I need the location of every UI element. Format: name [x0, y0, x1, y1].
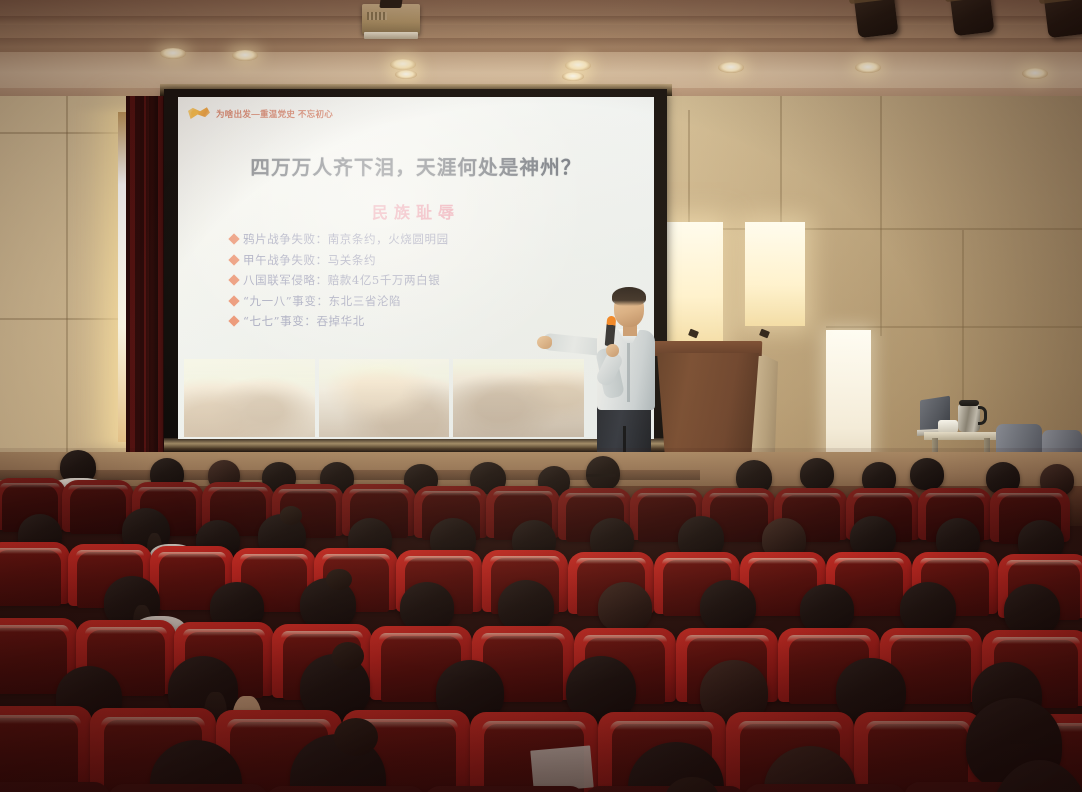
stage-spotlight-icon [1043, 0, 1082, 38]
audience-head [586, 456, 620, 490]
slide-bullet-item: 鸦片战争失败：南京条约，火烧圆明园 [230, 229, 624, 250]
presenter-hand [606, 344, 619, 357]
stage-spotlight-icon [949, 0, 994, 36]
theater-seat[interactable] [0, 782, 110, 792]
flame-emblem-icon [188, 107, 210, 121]
theater-seat[interactable] [108, 784, 268, 792]
ceiling-projector [362, 4, 420, 34]
diamond-bullet-icon [228, 254, 239, 265]
slide-bullet-text: “七七”事变：吞掉华北 [243, 313, 365, 329]
audience-head [900, 582, 956, 634]
slide-bullet-text: “九一八”事变：东北三省沦陷 [243, 293, 401, 309]
eyeglasses [1010, 740, 1062, 744]
audience-head [400, 582, 454, 632]
theater-seat[interactable] [424, 786, 586, 792]
seated-audience [0, 448, 1082, 792]
audience-head [910, 458, 944, 490]
slide-photo-strip [184, 359, 584, 437]
audience-head [1004, 584, 1060, 636]
theater-seat[interactable] [0, 706, 92, 792]
ceiling-beam [0, 16, 1082, 25]
slide-header-text: 为啥出发—重温党史 不忘初心 [216, 108, 333, 120]
slide-title: 四万万人齐下泪，天涯何处是神州？ [178, 151, 654, 180]
downlight-icon [1022, 68, 1048, 79]
diamond-bullet-icon [228, 234, 239, 245]
presenter-hand-with-pointer [537, 336, 552, 349]
presenter-hair [612, 287, 646, 306]
slide-bullet-item: “九一八”事变：东北三省沦陷 [230, 291, 624, 312]
stage-spotlight-icon [853, 0, 898, 38]
theater-seat[interactable] [0, 542, 70, 604]
kettle-lid [959, 400, 979, 406]
audience-head [800, 458, 834, 490]
audience-head [700, 580, 756, 632]
diamond-bullet-icon [228, 295, 239, 306]
spotlight-yoke [849, 0, 899, 4]
slide-header: 为啥出发—重温党史 不忘初心 [188, 107, 333, 121]
slide-bullet-item: 甲午战争失败：马关条约 [230, 250, 624, 271]
downlight-icon [718, 62, 744, 73]
audience-head [598, 582, 652, 632]
projector-mount [379, 0, 402, 8]
theater-seat[interactable] [854, 712, 982, 792]
wall-light-panel [745, 222, 805, 326]
lecture-hall-photo: 为啥出发—重温党史 不忘初心 四万万人齐下泪，天涯何处是神州？ 民族耻辱 鸦片战… [0, 0, 1082, 792]
eyeglasses [586, 474, 616, 477]
slide-bullet-item: “七七”事变：吞掉华北 [230, 311, 624, 332]
slide-bullet-list: 鸦片战争失败：南京条约，火烧圆明园 甲午战争失败：马关条约 八国联军侵略：赔款4… [230, 229, 624, 332]
audience-head [300, 578, 356, 630]
theater-seat[interactable] [744, 784, 906, 792]
spotlight-yoke [1039, 0, 1082, 4]
thermos-kettle [958, 404, 980, 432]
historic-photo-3 [453, 359, 584, 437]
projector-lens-plate [364, 32, 418, 39]
downlight-icon [562, 72, 584, 81]
diamond-bullet-icon [228, 275, 239, 286]
panel-seam [880, 96, 882, 336]
spotlight-yoke [945, 0, 995, 2]
slide-bullet-item: 八国联军侵略：赔款4亿5千万两白银 [230, 270, 624, 291]
theater-seat[interactable] [584, 786, 746, 792]
panel-seam [962, 230, 964, 400]
downlight-icon [232, 50, 258, 61]
audience-head [498, 580, 554, 632]
curtain-fold [146, 96, 158, 458]
ceiling-beam [0, 38, 1082, 47]
slide-bullet-text: 鸦片战争失败：南京条约，火烧圆明园 [243, 231, 449, 247]
downlight-icon [390, 59, 416, 70]
slide-bullet-text: 八国联军侵略：赔款4亿5千万两白银 [243, 272, 440, 288]
historic-photo-1 [184, 359, 315, 437]
slide-subtitle: 民族耻辱 [178, 199, 654, 223]
downlight-icon [565, 60, 591, 71]
theater-seat[interactable] [266, 786, 426, 792]
panel-seam [780, 96, 782, 236]
audience-head [800, 584, 854, 634]
historic-photo-2 [319, 359, 450, 437]
hvac-grille [22, 50, 94, 62]
projector-vent [367, 12, 387, 20]
panel-seam [826, 326, 1082, 328]
shirt-placket [627, 338, 630, 402]
downlight-icon [855, 62, 881, 73]
wooden-podium [655, 353, 759, 463]
downlight-icon [160, 48, 186, 59]
slide-bullet-text: 甲午战争失败：马关条约 [243, 252, 376, 268]
projection-screen: 为啥出发—重温党史 不忘初心 四万万人齐下泪，天涯何处是神州？ 民族耻辱 鸦片战… [178, 97, 654, 439]
wall-light-panel [661, 222, 723, 346]
diamond-bullet-icon [228, 316, 239, 327]
hvac-grille [398, 74, 470, 83]
kettle-handle [978, 406, 987, 425]
